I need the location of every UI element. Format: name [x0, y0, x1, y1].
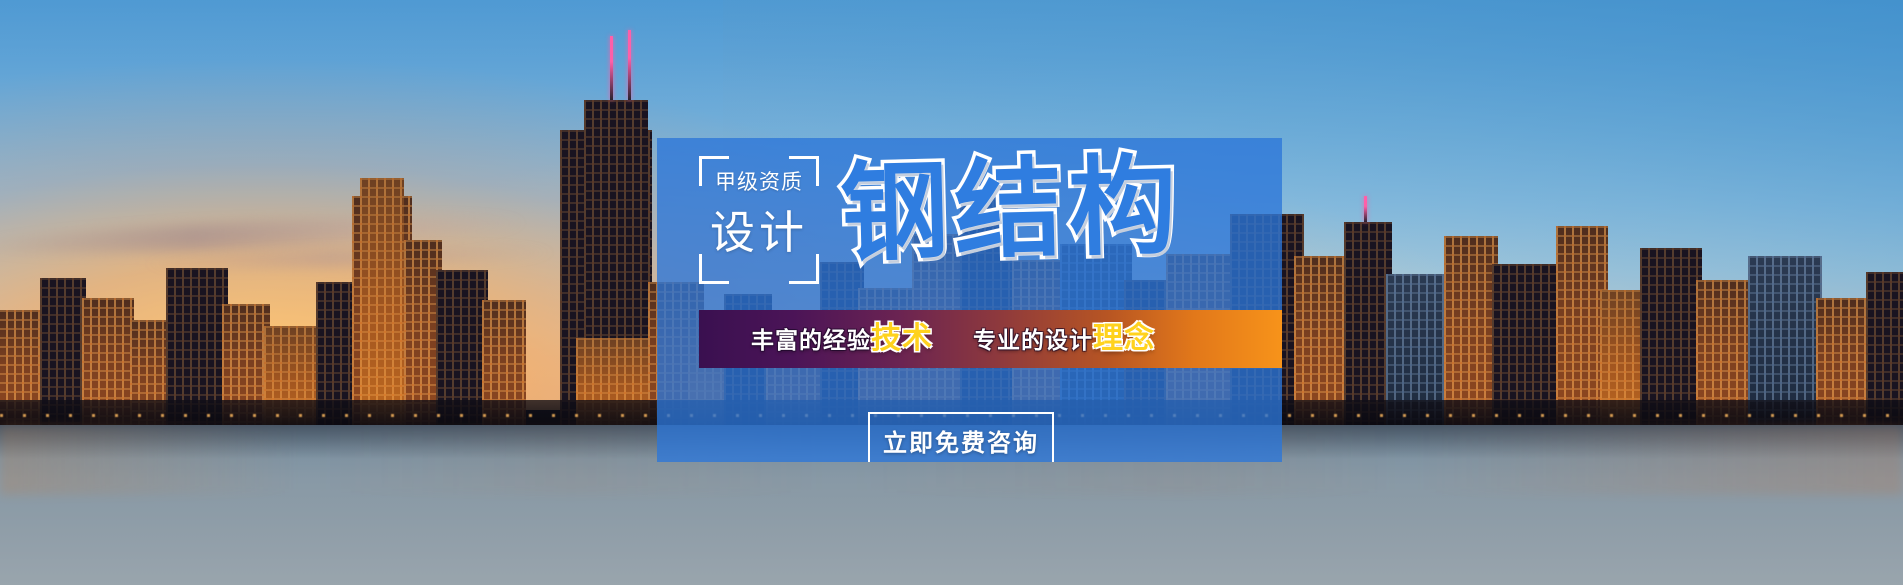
- headline-title: 钢结构: [839, 142, 1184, 278]
- bracket-bottom-right-icon: [789, 254, 819, 284]
- antenna-icon: [1364, 196, 1367, 222]
- antenna-icon: [628, 30, 631, 100]
- hero-banner: 甲级资质 设计 钢结构 丰富的经验技术 专业的设计理念 立即免费咨询: [0, 0, 1903, 585]
- building: [1344, 222, 1392, 430]
- free-consultation-button-label: 立即免费咨询: [883, 432, 1039, 456]
- qualification-badge: 甲级资质 设计: [699, 156, 819, 284]
- feature-strap-right: 专业的设计理念: [973, 324, 1155, 354]
- feature-left-accent: 技术: [871, 322, 933, 355]
- feature-strap-left: 丰富的经验技术: [751, 324, 933, 354]
- feature-right-plain: 专业的设计: [973, 327, 1093, 353]
- bracket-bottom-left-icon: [699, 254, 729, 284]
- promo-card: 甲级资质 设计 钢结构 丰富的经验技术 专业的设计理念 立即免费咨询: [657, 138, 1282, 462]
- feature-strap: 丰富的经验技术 专业的设计理念: [699, 310, 1282, 368]
- feature-right-accent: 理念: [1093, 322, 1155, 355]
- antenna-icon: [610, 36, 613, 100]
- feature-left-plain: 丰富的经验: [751, 327, 871, 353]
- qualification-top-label: 甲级资质: [699, 172, 819, 193]
- building-tower-crown: [360, 178, 404, 430]
- qualification-main-label: 设计: [699, 210, 819, 255]
- free-consultation-button[interactable]: 立即免费咨询: [868, 412, 1054, 462]
